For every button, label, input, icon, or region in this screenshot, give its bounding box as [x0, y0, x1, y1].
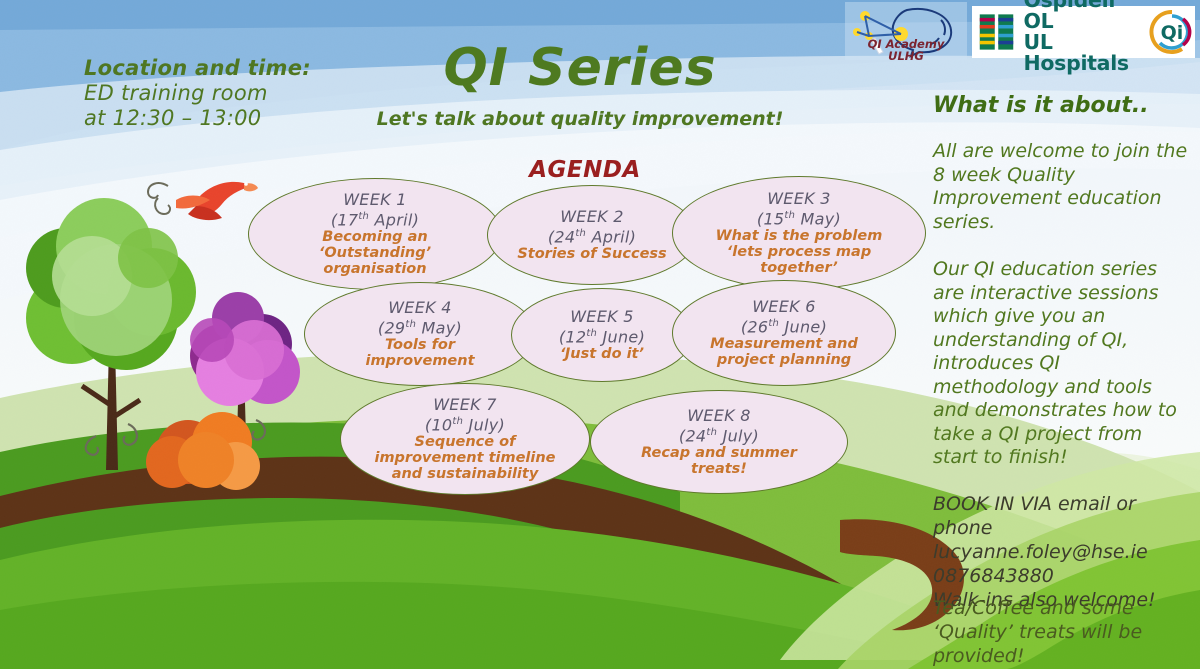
week-label: WEEK 5 [559, 308, 645, 325]
booking-info: BOOK IN VIA email or phonelucyanne.foley… [933, 492, 1191, 612]
agenda-week-ellipse[interactable]: WEEK 8 (24th July) Recap and summertreat… [590, 390, 848, 494]
svg-text:Qi: Qi [1161, 22, 1184, 44]
week-description: Sequence ofimprovement timelineand susta… [374, 434, 555, 482]
week-description: Measurement andproject planning [710, 336, 858, 368]
week-date: (10th July) [374, 413, 555, 433]
poster-root: Location and time: ED training room at 1… [0, 0, 1200, 669]
week-description: ‘Just do it’ [559, 346, 645, 362]
week-date: (15th May) [716, 207, 883, 227]
week-description: Recap and summertreats! [641, 445, 797, 477]
week-description: What is the problem‘lets process maptoge… [716, 228, 883, 276]
agenda-week-ellipse[interactable]: WEEK 6 (26th June) Measurement andprojec… [672, 280, 896, 386]
about-heading: What is it about.. [933, 93, 1200, 118]
week-label: WEEK 4 [365, 299, 474, 316]
week-label: WEEK 8 [641, 407, 797, 424]
week-label: WEEK 6 [710, 298, 858, 315]
agenda-heading: AGENDA [470, 157, 700, 183]
qi-academy-caption: QI Academy ULHG [845, 38, 967, 62]
hse-ul-hospitals-logo: Ospidéil OL UL Hospitals Qi [972, 6, 1195, 58]
week-description: Becoming an‘Outstanding’organisation [319, 229, 431, 277]
week-label: WEEK 1 [319, 191, 431, 208]
week-date: (24th July) [641, 424, 797, 444]
week-label: WEEK 3 [716, 190, 883, 207]
location-room: ED training room [84, 81, 414, 106]
week-date: (29th May) [365, 316, 474, 336]
page-subtitle: Let's talk about quality improvement! [330, 108, 830, 130]
week-date: (26th June) [710, 315, 858, 335]
agenda-week-ellipse[interactable]: WEEK 2 (24th April) Stories of Success [487, 185, 697, 285]
week-description: Stories of Success [517, 246, 666, 262]
qi-mark-icon: Qi [1149, 9, 1195, 55]
agenda-week-ellipse[interactable]: WEEK 5 (12th June) ‘Just do it’ [511, 288, 693, 382]
hse-bars-icon [978, 10, 1019, 54]
page-title: QI Series [370, 40, 790, 96]
agenda-week-ellipse[interactable]: WEEK 7 (10th July) Sequence ofimprovemen… [340, 383, 590, 495]
week-date: (24th April) [517, 225, 666, 245]
about-paragraph-2: Our QI education series are interactive … [933, 258, 1191, 470]
week-label: WEEK 7 [374, 396, 555, 413]
week-description: Tools forimprovement [365, 337, 474, 369]
agenda-week-ellipse[interactable]: WEEK 1 (17th April) Becoming an‘Outstand… [248, 178, 502, 290]
agenda-week-ellipse[interactable]: WEEK 3 (15th May) What is the problem‘le… [672, 176, 926, 290]
week-label: WEEK 2 [517, 208, 666, 225]
location-label: Location and time: [84, 56, 414, 81]
qi-academy-logo: QI Academy ULHG [845, 2, 967, 60]
treats-note: Tea/Coffee and some ‘Quality’ treats wil… [933, 596, 1191, 668]
agenda-week-ellipse[interactable]: WEEK 4 (29th May) Tools forimprovement [304, 282, 536, 386]
hse-logo-text: Ospidéil OL UL Hospitals [1024, 0, 1148, 74]
about-paragraph-1: All are welcome to join the 8 week Quali… [933, 140, 1191, 234]
week-date: (17th April) [319, 208, 431, 228]
week-date: (12th June) [559, 325, 645, 345]
